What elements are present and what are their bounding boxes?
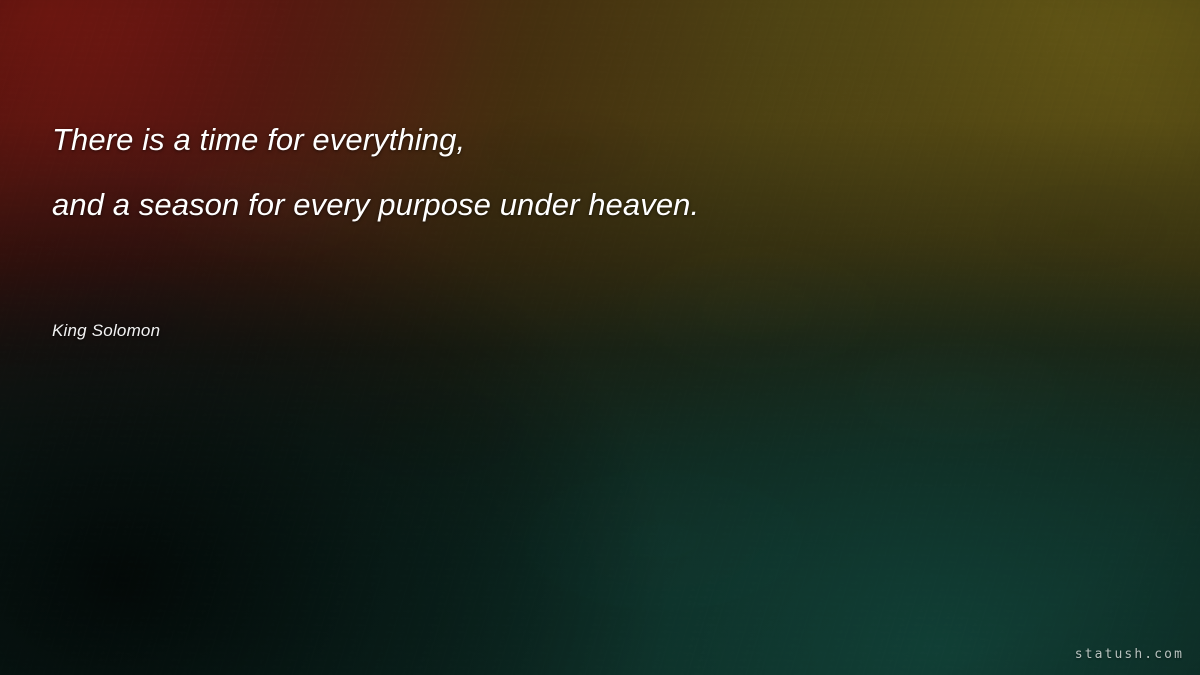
quote-content: There is a time for everything, and a se… bbox=[52, 0, 1152, 675]
quote-card: There is a time for everything, and a se… bbox=[0, 0, 1200, 675]
quote-text-line-1: There is a time for everything, bbox=[52, 122, 465, 158]
watermark-statush: statush.com bbox=[1075, 647, 1184, 662]
quote-text-line-2: and a season for every purpose under hea… bbox=[52, 187, 699, 223]
quote-author: King Solomon bbox=[52, 321, 160, 341]
